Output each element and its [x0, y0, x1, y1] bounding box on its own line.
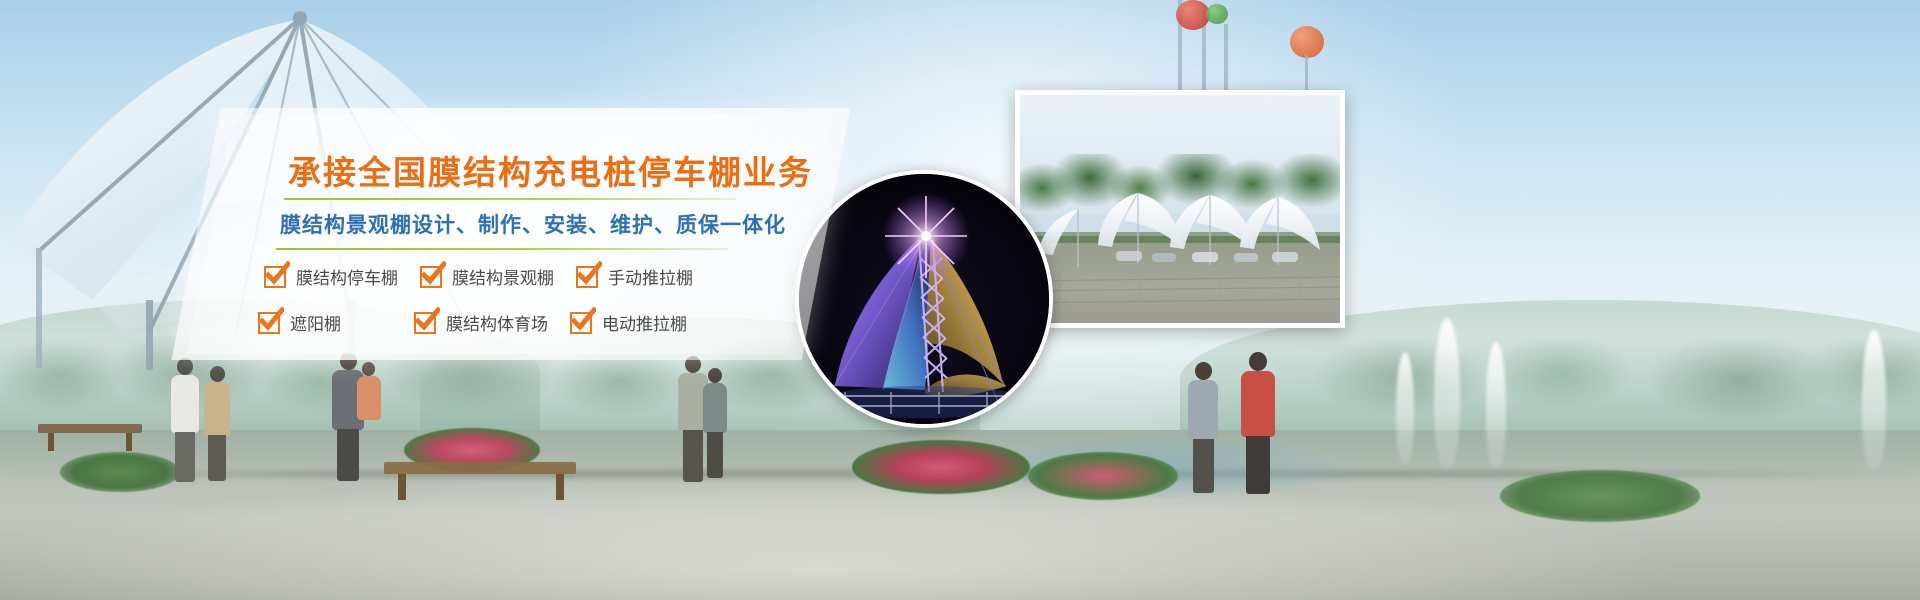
check-icon: [414, 312, 436, 334]
fountain-jet: [1486, 342, 1506, 468]
check-icon: [576, 266, 598, 288]
check-icon: [258, 312, 280, 334]
feature-label: 电动推拉棚: [602, 310, 687, 335]
fountain-jet: [1434, 318, 1460, 468]
promo-banner: 承接全国膜结构充电桩停车棚业务 膜结构景观棚设计、制作、安装、维护、质保一体化 …: [0, 0, 1920, 600]
park-bench: [38, 424, 142, 433]
bench-leg: [48, 433, 54, 451]
person-silhouette: [356, 362, 382, 432]
fountain-jet: [1862, 330, 1886, 470]
feature-label: 手动推拉棚: [608, 264, 693, 289]
person-silhouette: [702, 368, 728, 480]
check-icon: [570, 312, 592, 334]
divider-top: [284, 198, 736, 200]
fountain-jet: [1396, 352, 1414, 464]
flower-bed: [1500, 470, 1700, 522]
flower-bed: [60, 452, 180, 492]
subtitle: 膜结构景观棚设计、制作、安装、维护、质保一体化: [280, 209, 786, 239]
feature-label: 膜结构停车棚: [296, 264, 398, 289]
feature-label: 膜结构景观棚: [452, 264, 554, 289]
flower-bed: [852, 440, 1030, 494]
promo-text-panel: 承接全国膜结构充电桩停车棚业务 膜结构景观棚设计、制作、安装、维护、质保一体化 …: [196, 108, 826, 360]
person-silhouette: [1186, 362, 1220, 494]
feature-item[interactable]: 遮阳棚: [258, 310, 341, 335]
feature-label: 膜结构体育场: [446, 310, 548, 335]
feature-label: 遮阳棚: [290, 310, 341, 335]
feature-item[interactable]: 手动推拉棚: [576, 264, 693, 289]
balloon-decoration: [1176, 0, 1210, 30]
flower-bed: [1028, 452, 1178, 500]
feature-row: 膜结构停车棚 膜结构景观棚: [264, 264, 804, 306]
bench-leg: [126, 433, 132, 451]
person-silhouette: [168, 358, 202, 484]
check-icon: [420, 266, 442, 288]
feature-item[interactable]: 膜结构景观棚: [420, 264, 554, 289]
check-icon: [264, 266, 286, 288]
divider-bottom: [276, 248, 728, 250]
photo-membrane-canopy-daytime: [1015, 90, 1345, 328]
bench-leg: [556, 474, 564, 500]
balloon-decoration: [1206, 4, 1228, 24]
feature-list: 膜结构停车棚 膜结构景观棚: [264, 264, 804, 348]
bench-leg: [398, 474, 406, 500]
page-title: 承接全国膜结构充电桩停车棚业务: [288, 146, 813, 194]
person-silhouette: [1238, 352, 1278, 494]
feature-item[interactable]: 电动推拉棚: [570, 310, 687, 335]
balloon-decoration: [1290, 26, 1324, 58]
person-silhouette: [202, 366, 232, 484]
park-bench: [384, 462, 576, 474]
feature-item[interactable]: 膜结构体育场: [414, 310, 548, 335]
feature-row: 遮阳棚 膜结构体育场: [264, 306, 804, 348]
feature-item[interactable]: 膜结构停车棚: [264, 264, 398, 289]
photo-membrane-structure-night: [795, 170, 1053, 428]
